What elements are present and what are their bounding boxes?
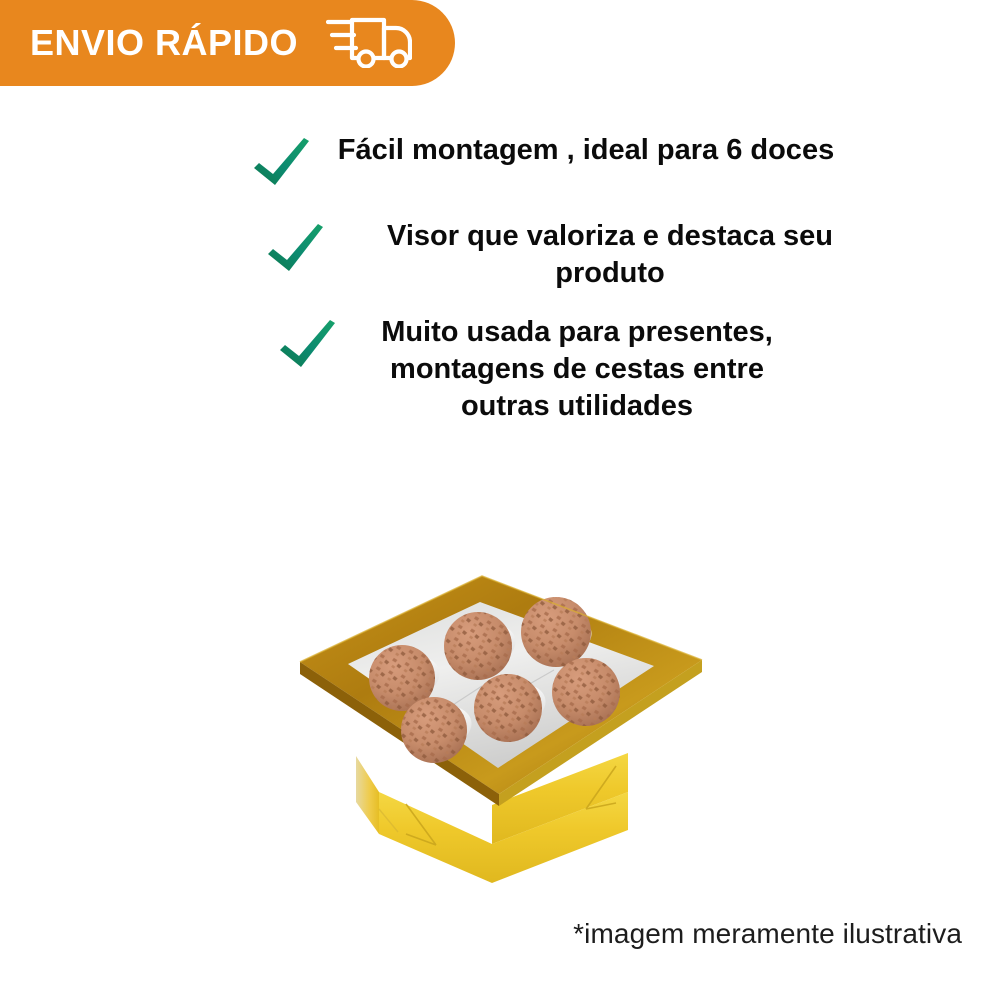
green-check-icon [264, 224, 326, 282]
feature-item-label: Muito usada para presentes, montagens de… [338, 314, 818, 425]
feature-item: Fácil montagem , ideal para 6 doces [250, 132, 930, 196]
feature-item-label: Fácil montagem , ideal para 6 doces [312, 132, 862, 169]
feature-list: Fácil montagem , ideal para 6 doces Viso… [250, 132, 930, 426]
delivery-truck-icon [326, 14, 412, 73]
illustrative-image-disclaimer: *imagem meramente ilustrativa [573, 918, 962, 950]
green-check-icon [250, 138, 312, 196]
shipping-banner: ENVIO RÁPIDO [0, 0, 455, 86]
feature-item: Muito usada para presentes, montagens de… [276, 314, 930, 425]
green-check-icon [276, 320, 338, 378]
shipping-banner-label: ENVIO RÁPIDO [30, 25, 298, 61]
feature-item: Visor que valoriza e destaca seu produto [264, 218, 930, 292]
product-image [286, 566, 716, 896]
feature-item-label: Visor que valoriza e destaca seu produto [326, 218, 896, 292]
